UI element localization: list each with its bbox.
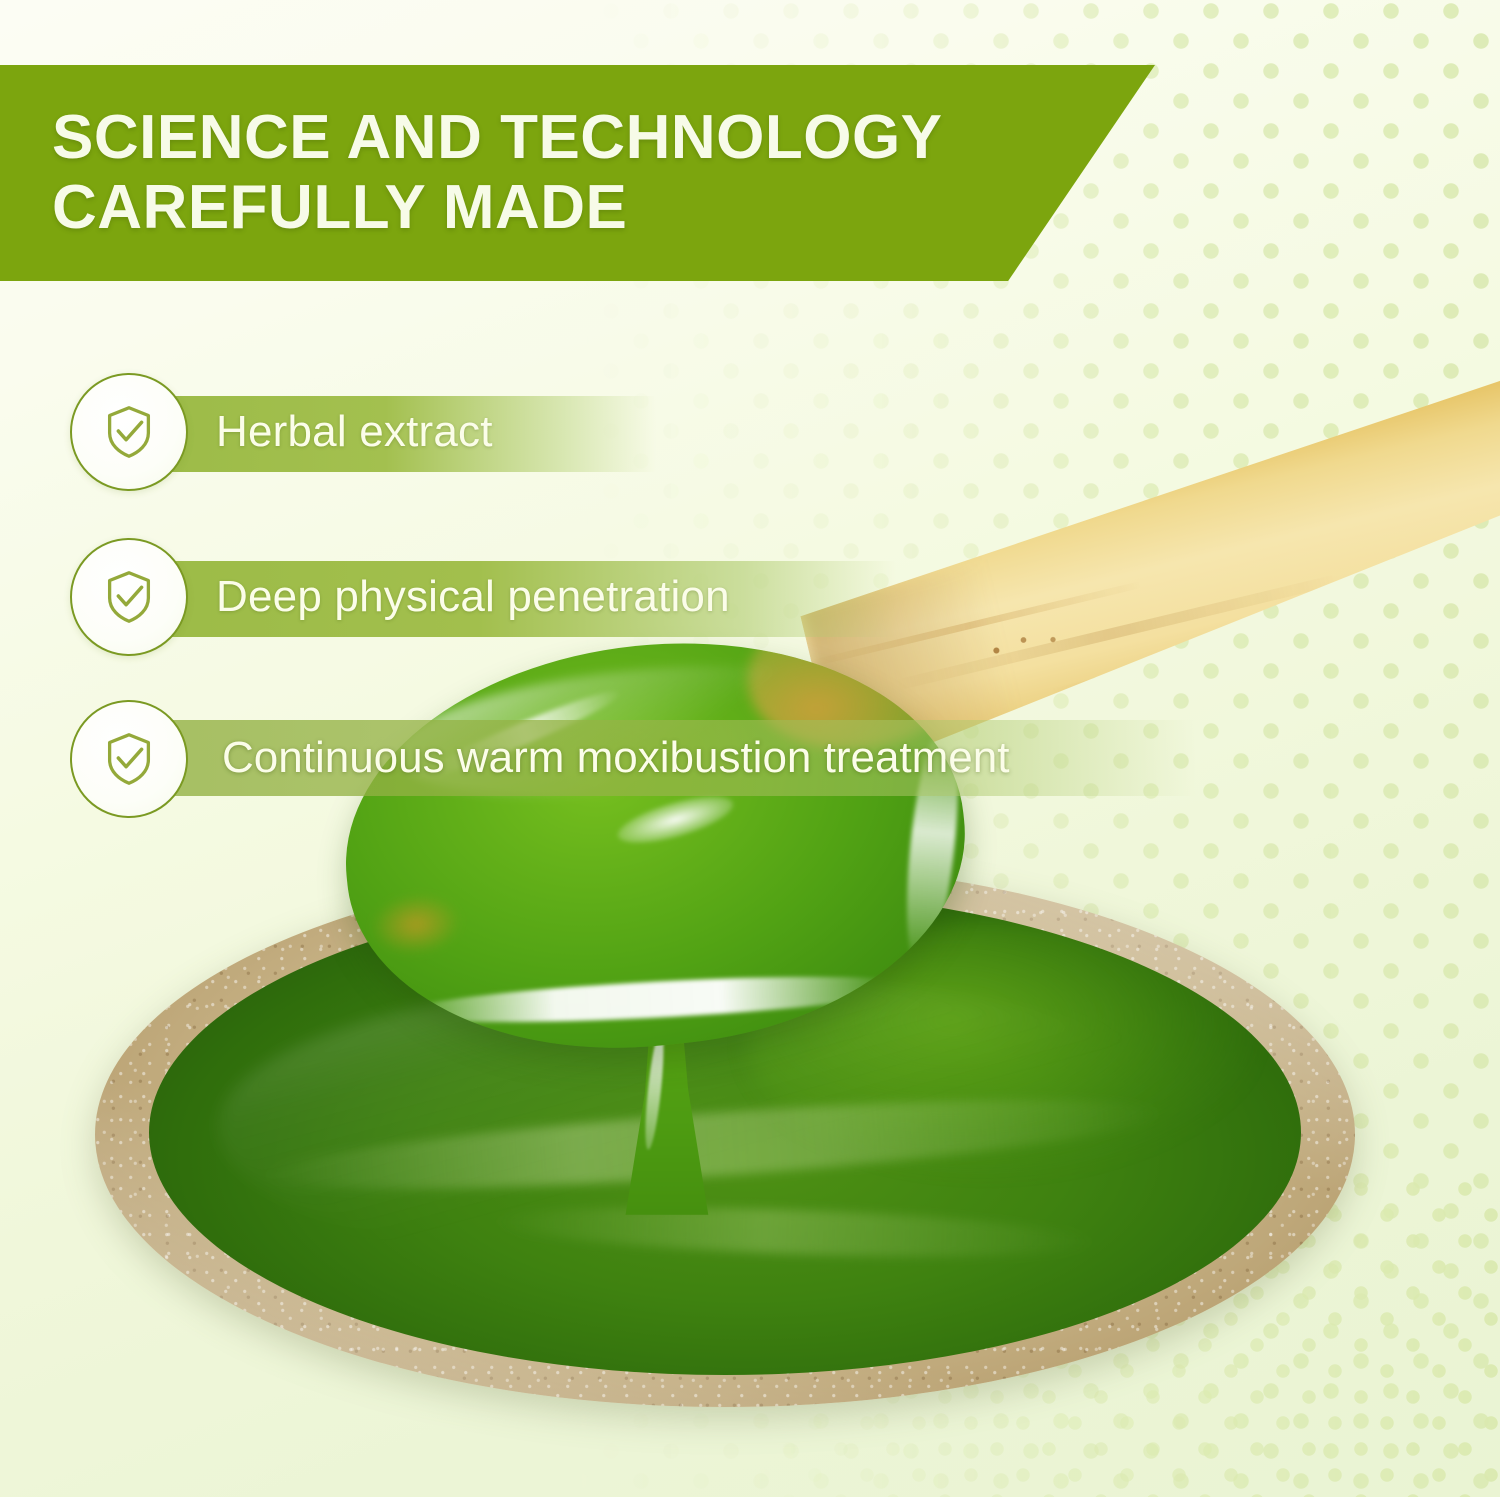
feature-label: Deep physical penetration — [216, 572, 730, 622]
feature-list: Herbal extract Deep physical penetration — [70, 372, 730, 702]
feature-item-continuous-warm-moxibustion-treatment: Continuous warm moxibustion treatment — [222, 733, 1009, 783]
shield-check-icon-badge — [70, 700, 188, 818]
shield-check-icon — [98, 401, 160, 463]
shield-check-icon — [98, 728, 160, 790]
feature-item-deep-physical-penetration[interactable]: Deep physical penetration — [70, 537, 730, 657]
feature-item-herbal-extract[interactable]: Herbal extract — [70, 372, 730, 492]
polka-dot-background-lower — [0, 1180, 1500, 1497]
shield-check-icon-badge — [70, 373, 188, 491]
feature-label: Herbal extract — [216, 407, 493, 457]
headline-text: SCIENCE AND TECHNOLOGY CAREFULLY MADE — [52, 103, 943, 243]
shield-check-icon-badge — [70, 538, 188, 656]
headline-banner: SCIENCE AND TECHNOLOGY CAREFULLY MADE — [0, 65, 1155, 281]
product-feature-poster: SCIENCE AND TECHNOLOGY CAREFULLY MADE He… — [0, 0, 1500, 1497]
shield-check-icon — [98, 566, 160, 628]
